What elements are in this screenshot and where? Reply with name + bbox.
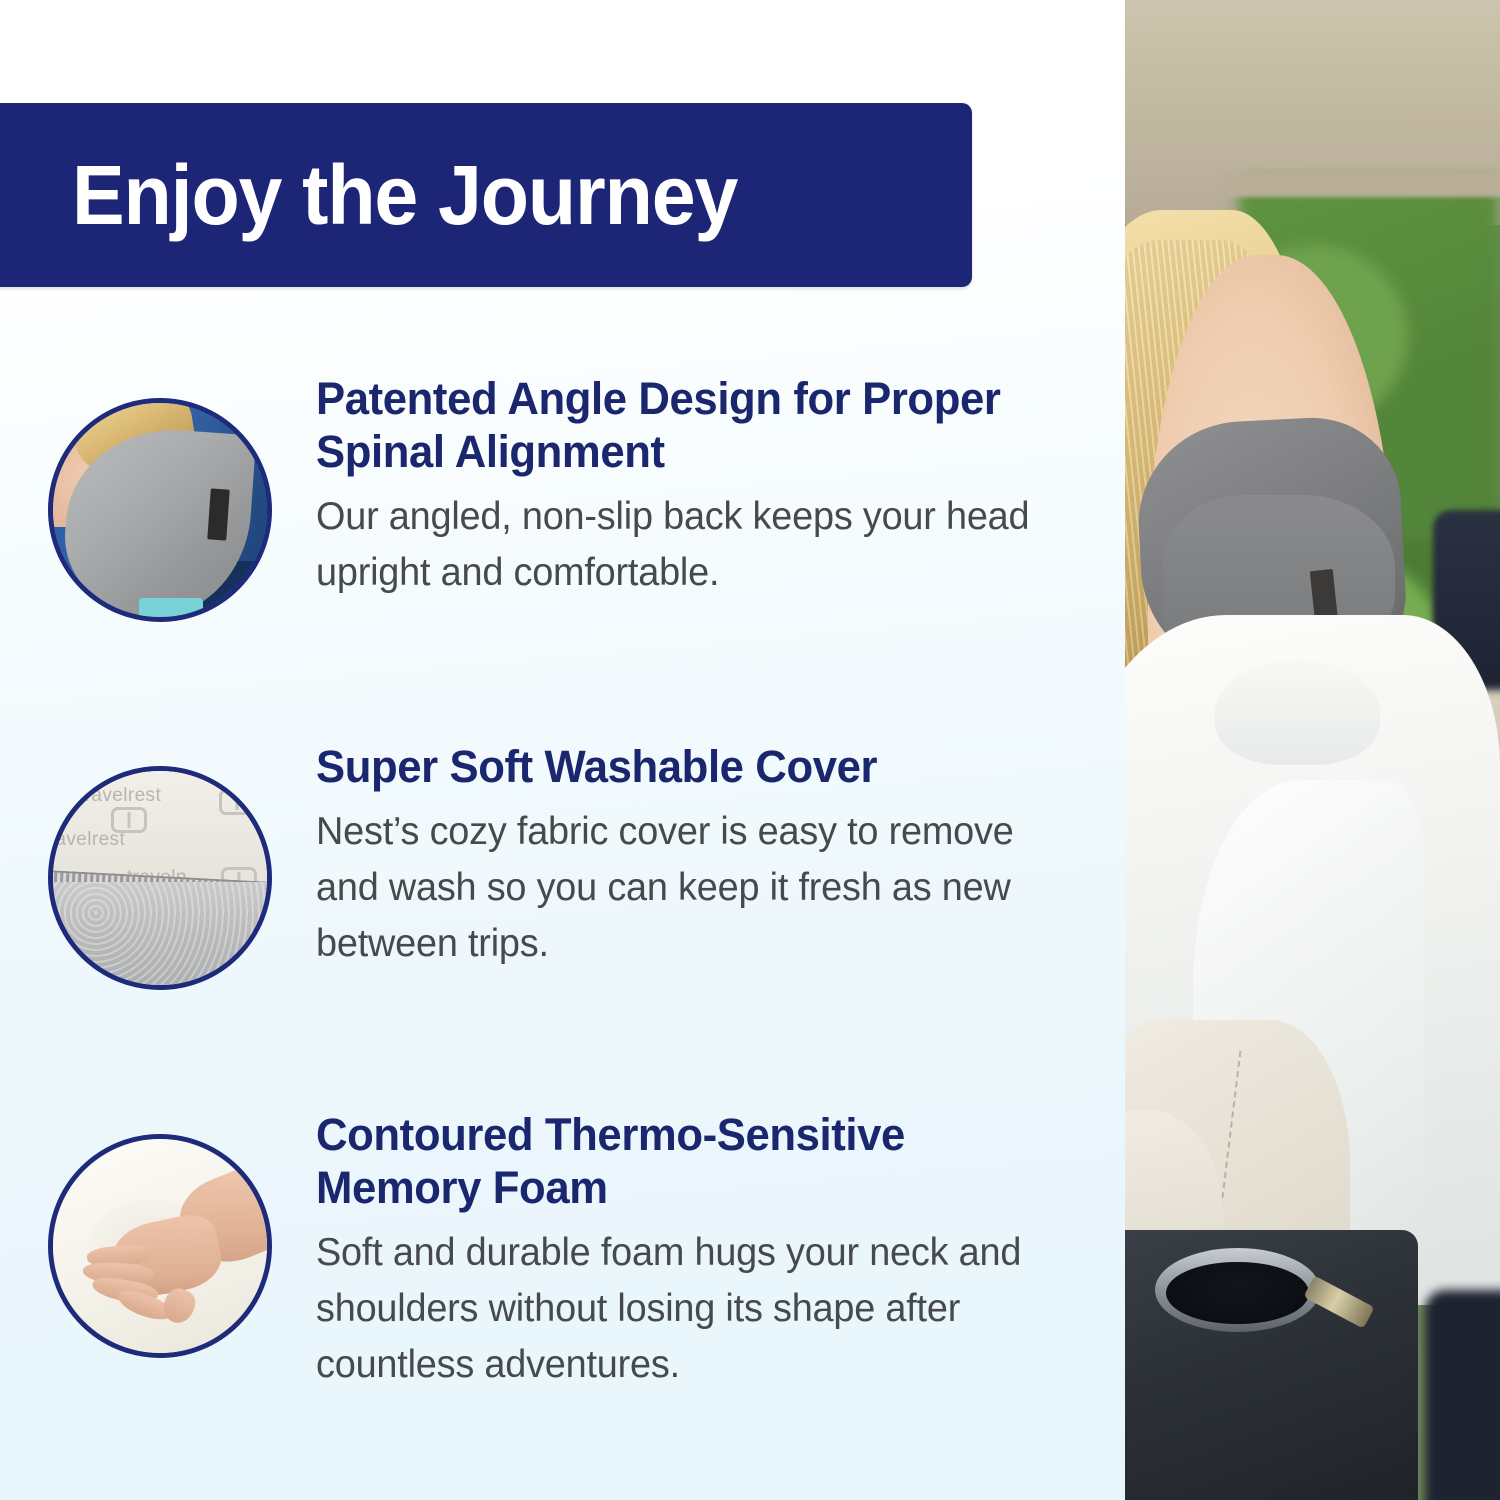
feature-heading: Super Soft Washable Cover <box>316 740 1062 793</box>
angled-wedge-pillow-thumbnail <box>48 398 272 622</box>
feature-heading: Patented Angle Design for Proper Spinal … <box>316 372 1062 478</box>
cup-holder-opening <box>1166 1262 1309 1325</box>
feature-text-block: Contoured Thermo-Sensitive Memory Foam S… <box>272 1108 1125 1392</box>
travelrest-logo-icon <box>219 789 255 815</box>
plush-fabric-panel <box>53 882 267 985</box>
feature-text-block: Super Soft Washable Cover Nest’s cozy fa… <box>272 740 1125 971</box>
feature-body: Our angled, non-slip back keeps your hea… <box>316 489 1062 601</box>
infographic-canvas: Enjoy the Journey <box>0 0 1500 1500</box>
brand-print-text: travelrest <box>79 785 161 807</box>
teal-accent-shape <box>139 598 203 617</box>
feature-item-memory-foam: Contoured Thermo-Sensitive Memory Foam S… <box>0 1108 1125 1392</box>
header-banner: Enjoy the Journey <box>0 103 972 287</box>
page-title: Enjoy the Journey <box>72 153 737 237</box>
window-frame-shape <box>1223 173 1500 197</box>
washable-cover-zipper-thumbnail: travelrest travelrest traveln <box>48 766 272 990</box>
content-panel: Enjoy the Journey <box>0 0 1125 1500</box>
travelrest-logo-icon <box>111 807 147 833</box>
zippered-cover-illustration: travelrest travelrest traveln <box>53 771 267 985</box>
memory-foam-hand-press-thumbnail <box>48 1134 272 1358</box>
feature-item-spinal-alignment: Patented Angle Design for Proper Spinal … <box>0 372 1125 622</box>
console-shadow-shape <box>1425 1290 1500 1500</box>
feature-heading: Contoured Thermo-Sensitive Memory Foam <box>316 1108 1062 1214</box>
feature-body: Soft and durable foam hugs your neck and… <box>316 1225 1062 1392</box>
wedge-pillow-illustration <box>53 403 267 617</box>
feature-text-block: Patented Angle Design for Proper Spinal … <box>272 372 1125 601</box>
woman-wearing-neck-pillow-in-car <box>1125 0 1500 1500</box>
feature-item-washable-cover: travelrest travelrest traveln Super Soft… <box>0 740 1125 990</box>
brand-print-text: travelrest <box>48 829 125 851</box>
feature-list: Patented Angle Design for Proper Spinal … <box>0 372 1125 1392</box>
memory-foam-illustration <box>53 1139 267 1353</box>
sweater-collar-shape <box>1215 660 1380 765</box>
feature-body: Nest’s cozy fabric cover is easy to remo… <box>316 804 1062 971</box>
